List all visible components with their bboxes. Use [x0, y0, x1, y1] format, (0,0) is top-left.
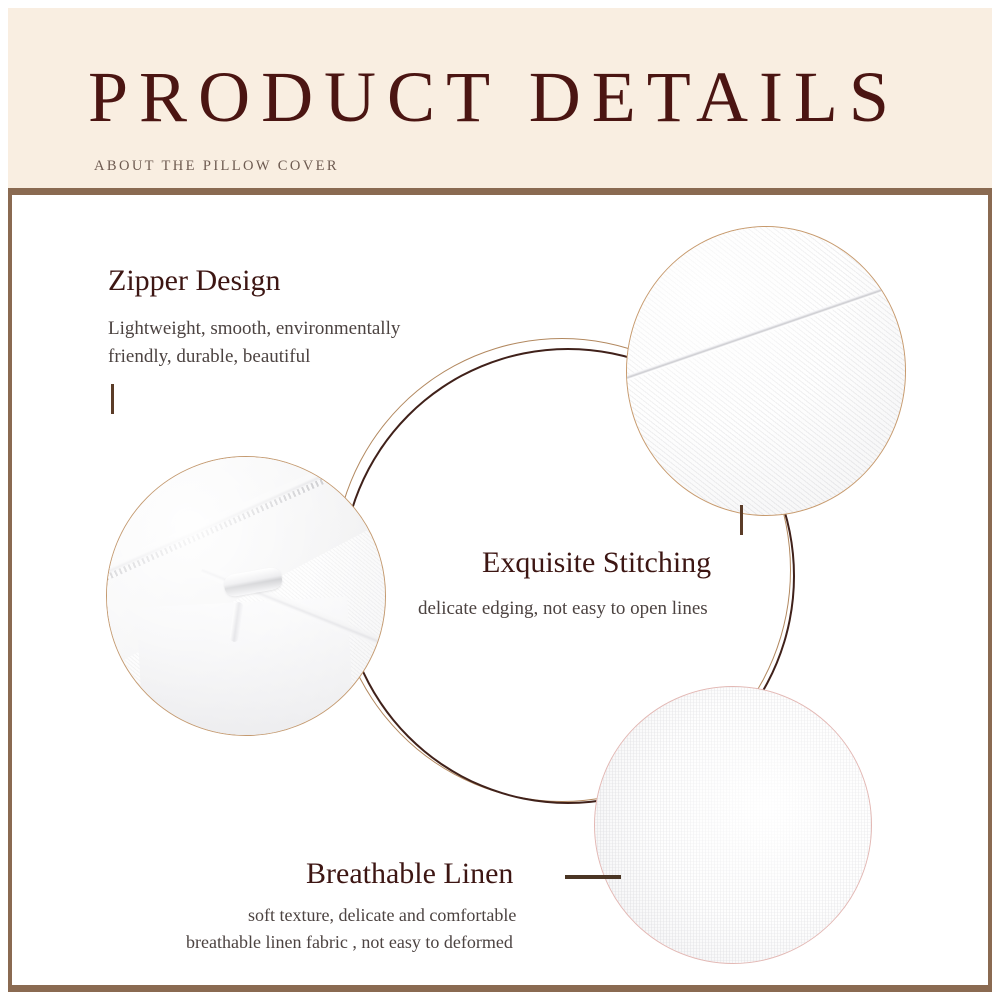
dash-mark-icon-linen: [565, 875, 621, 879]
feature-description-linen-line-2: breathable linen fabric , not easy to de…: [186, 932, 513, 953]
frame-border-left: [8, 188, 12, 992]
tick-mark-icon-zipper: [111, 384, 114, 414]
feature-heading-linen: Breathable Linen: [306, 857, 513, 891]
divider-top: [8, 188, 992, 195]
photo-stitching-closeup: [626, 226, 906, 516]
feature-description-zipper-line-1: Lightweight, smooth, environmentally: [108, 318, 400, 340]
page-subtitle: ABOUT THE PILLOW COVER: [94, 158, 339, 175]
photo-linen-closeup: [594, 686, 872, 964]
feature-heading-stitching: Exquisite Stitching: [482, 546, 711, 580]
photo-highlight: [107, 457, 385, 735]
page-title: PRODUCT DETAILS: [88, 56, 948, 138]
product-details-infographic: PRODUCT DETAILS ABOUT THE PILLOW COVER Z…: [0, 0, 1000, 1000]
feature-description-stitching-line-1: delicate edging, not easy to open lines: [418, 598, 708, 620]
feature-description-zipper-line-2: friendly, durable, beautiful: [108, 346, 310, 368]
feature-heading-zipper: Zipper Design: [108, 264, 280, 298]
frame-border-right: [988, 188, 992, 992]
feature-description-linen-line-1: soft texture, delicate and comfortable: [248, 905, 516, 926]
header-band: PRODUCT DETAILS ABOUT THE PILLOW COVER: [8, 8, 992, 188]
photo-highlight: [595, 687, 871, 963]
tick-mark-icon-stitching: [740, 505, 743, 535]
photo-highlight: [627, 227, 905, 515]
photo-zipper-closeup: [106, 456, 386, 736]
divider-bottom: [8, 985, 992, 992]
